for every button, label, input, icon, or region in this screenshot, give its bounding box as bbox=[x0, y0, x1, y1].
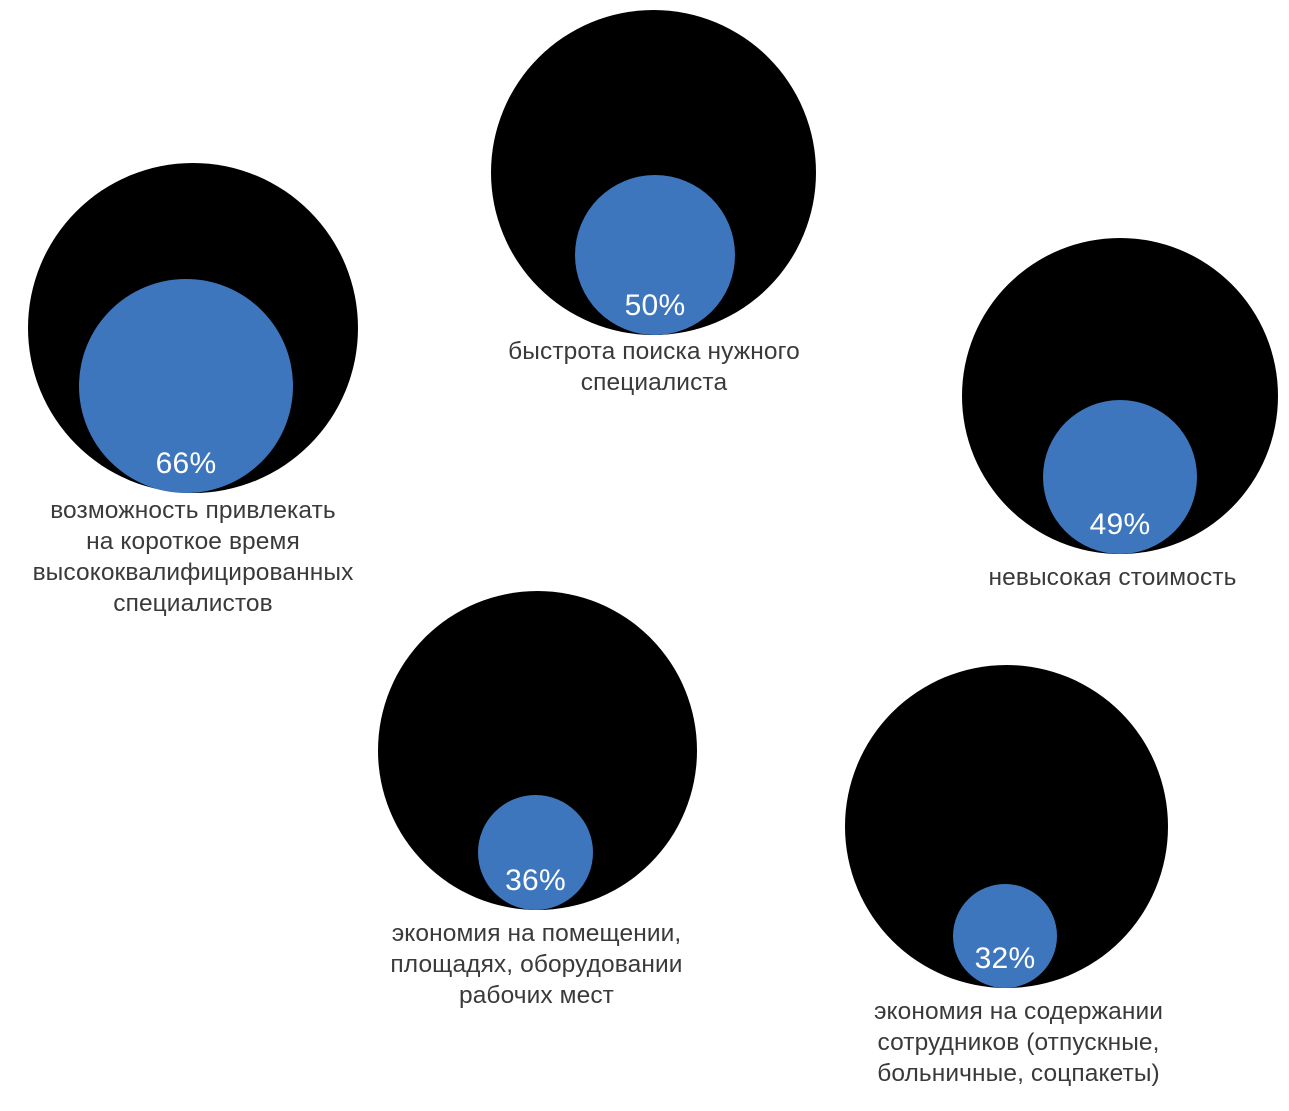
category-label-49: невысокая стоимость bbox=[940, 562, 1285, 593]
inner-circle-49: 49% bbox=[1043, 400, 1197, 554]
inner-circle-66: 66% bbox=[79, 279, 293, 493]
bubble-chart: 66% возможность привлекать на короткое в… bbox=[0, 0, 1289, 1111]
bubble-item-36: 36% экономия на помещении, площадях, обо… bbox=[360, 580, 710, 1030]
value-label-32: 32% bbox=[975, 944, 1036, 988]
value-label-36: 36% bbox=[505, 866, 566, 910]
category-label-36: экономия на помещении, площадях, оборудо… bbox=[360, 918, 713, 1011]
bubble-item-49: 49% невысокая стоимость bbox=[940, 230, 1289, 600]
category-label-66: возможность привлекать на короткое время… bbox=[0, 495, 386, 619]
value-label-49: 49% bbox=[1090, 510, 1151, 554]
bubble-item-50: 50% быстрота поиска нужного специалиста bbox=[470, 0, 850, 410]
value-label-66: 66% bbox=[156, 449, 217, 493]
value-label-50: 50% bbox=[625, 291, 686, 335]
inner-circle-50: 50% bbox=[575, 175, 735, 335]
category-label-50: быстрота поиска нужного специалиста bbox=[470, 336, 838, 398]
bubble-item-32: 32% экономия на содержании сотрудников (… bbox=[830, 655, 1210, 1111]
inner-circle-32: 32% bbox=[953, 884, 1057, 988]
bubble-item-66: 66% возможность привлекать на короткое в… bbox=[0, 0, 390, 640]
inner-circle-36: 36% bbox=[478, 795, 593, 910]
category-label-32: экономия на содержании сотрудников (отпу… bbox=[830, 996, 1207, 1089]
